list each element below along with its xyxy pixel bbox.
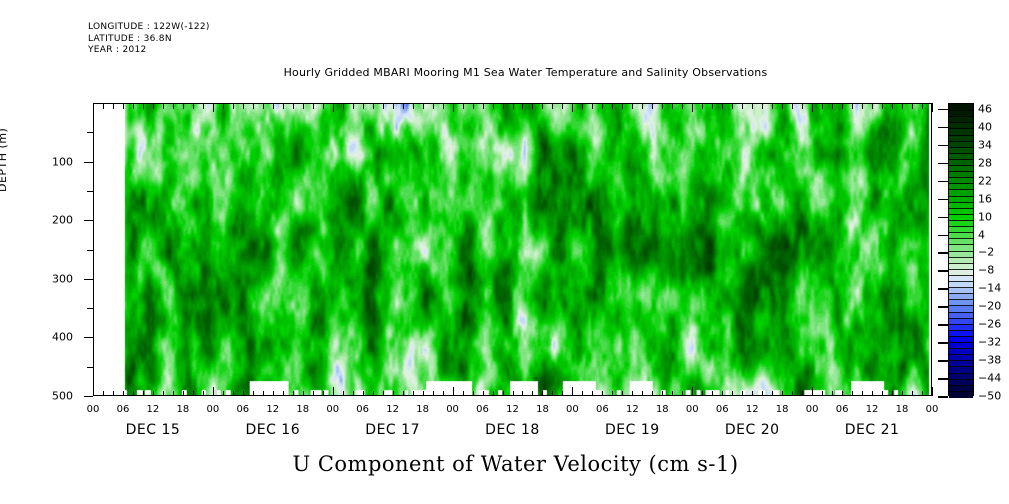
x-axis-hour-label: 12 [147,404,160,415]
axis-tick [413,391,414,397]
longitude-text: LONGITUDE : 122W(-122) [88,22,210,32]
axis-tick [87,250,93,251]
axis-tick [303,391,304,397]
axis-tick [483,391,484,397]
axis-tick [882,103,883,109]
colorbar-band-separator [949,354,973,355]
colorbar-band-separator [949,147,973,148]
axis-tick [84,279,93,280]
colorbar-band-separator [949,305,973,306]
axis-tick [552,103,553,109]
axis-tick [203,103,204,109]
axis-tick [622,103,623,109]
colorbar-tick [938,181,948,183]
axis-tick [383,391,384,397]
x-axis-hour-label: 00 [446,404,459,415]
x-axis-hour-label: 00 [326,404,339,415]
axis-tick [792,103,793,109]
colorbar-band-separator [949,189,973,190]
axis-tick [782,391,783,397]
y-axis-label: 400 [52,331,73,344]
x-axis-day-label: DEC 18 [485,422,540,438]
axis-tick [622,391,623,397]
axis-tick [782,103,783,109]
colorbar-band-separator [949,287,973,288]
axis-tick [133,391,134,397]
x-axis-day-label: DEC 20 [725,422,780,438]
y-axis-title: DEPTH (m) [0,128,9,192]
axis-tick [542,391,543,397]
colorbar-band-separator [949,202,973,203]
axis-tick [772,391,773,397]
axis-tick [233,391,234,397]
axis-tick [373,103,374,109]
colorbar-band-separator [949,373,973,374]
axis-tick [742,391,743,397]
x-axis-hour-label: 18 [177,404,190,415]
axis-tick [572,387,573,396]
x-axis-hour-label: 06 [596,404,609,415]
colorbar-band-separator [949,269,973,270]
y-axis-label: 500 [52,390,73,403]
axis-tick [113,103,114,109]
axis-tick [453,103,454,112]
axis-tick [702,391,703,397]
axis-tick [852,103,853,109]
axis-tick [632,103,633,109]
colorbar-tick-label: 4 [978,228,985,241]
colorbar-tick-label: 10 [978,210,992,223]
axis-tick [84,162,93,163]
axis-tick [293,103,294,109]
colorbar-band-separator [949,232,973,233]
axis-tick [722,391,723,397]
colorbar-tick-label: −38 [978,354,1001,367]
axis-tick [333,387,334,396]
colorbar-tick-label: 16 [978,192,992,205]
axis-tick [283,103,284,109]
colorbar-band-separator [949,171,973,172]
colorbar-band-separator [949,238,973,239]
axis-tick [87,132,93,133]
colorbar-band [949,391,973,398]
axis-tick [343,103,344,109]
axis-tick [513,103,514,109]
axis-tick [792,391,793,397]
colorbar-band-separator [949,312,973,313]
axis-tick [922,391,923,397]
axis-tick [862,391,863,397]
colorbar-band-separator [949,220,973,221]
axis-tick [253,391,254,397]
axis-tick [353,103,354,109]
axis-tick [882,391,883,397]
colorbar-band-separator [949,342,973,343]
heatmap-plot-area [93,103,932,396]
axis-tick [223,391,224,397]
x-axis-day-label: DEC 17 [365,422,420,438]
latitude-text: LATITUDE : 36.8N [88,34,172,44]
colorbar-band-separator [949,214,973,215]
axis-tick [87,308,93,309]
axis-tick [113,391,114,397]
axis-tick [87,191,93,192]
x-axis-hour-label: 12 [386,404,399,415]
axis-tick [423,103,424,109]
colorbar-tick-label: 40 [978,120,992,133]
axis-tick [84,220,93,221]
axis-tick [393,391,394,397]
axis-tick [353,391,354,397]
axis-tick [582,103,583,109]
colorbar-tick [938,342,948,344]
axis-tick [363,103,364,109]
axis-tick [852,391,853,397]
x-axis-hour-label: 12 [626,404,639,415]
colorbar-tick [938,270,948,272]
colorbar-tick-label: −8 [978,264,994,277]
velocity-field-canvas [94,104,931,395]
x-axis-hour-label: 18 [896,404,909,415]
x-axis-hour-label: 06 [476,404,489,415]
axis-tick [263,103,264,109]
axis-tick [473,103,474,109]
axis-tick [712,103,713,109]
x-axis-hour-label: 06 [356,404,369,415]
axis-tick [263,391,264,397]
axis-tick [932,387,933,396]
axis-tick [802,391,803,397]
colorbar-labels: 464034282216104−2−8−14−20−26−32−38−44−50 [978,103,1009,396]
axis-tick [752,103,753,109]
axis-tick [183,103,184,109]
colorbar-band-separator [949,275,973,276]
axis-tick [672,103,673,109]
axis-tick [592,391,593,397]
colorbar-tick [938,235,948,237]
colorbar-band-separator [949,177,973,178]
colorbar [948,103,974,396]
x-axis-hour-label: 06 [716,404,729,415]
colorbar-band-separator [949,135,973,136]
axis-tick [463,391,464,397]
axis-tick [163,103,164,109]
axis-tick [732,391,733,397]
axis-tick [403,391,404,397]
axis-tick [772,103,773,109]
colorbar-tick [938,163,948,165]
colorbar-band-separator [949,324,973,325]
x-axis-day-label: DEC 16 [245,422,300,438]
axis-tick [173,391,174,397]
colorbar-tick-label: −2 [978,246,994,259]
axis-tick [433,103,434,109]
colorbar-band-separator [949,348,973,349]
colorbar-tick [938,306,948,308]
axis-tick [522,103,523,109]
axis-tick [692,387,693,396]
axis-tick [443,103,444,109]
colorbar-band-separator [949,153,973,154]
x-axis-hour-label: 18 [536,404,549,415]
axis-tick [84,337,93,338]
colorbar-tick [938,324,948,326]
colorbar-band-separator [949,385,973,386]
year-text: YEAR : 2012 [88,45,147,55]
axis-tick [592,103,593,109]
axis-tick [752,391,753,397]
axis-tick [662,391,663,397]
colorbar-tick [938,360,948,362]
y-axis-label: 100 [52,155,73,168]
axis-tick [632,391,633,397]
axis-tick [832,391,833,397]
axis-tick [273,391,274,397]
colorbar-tick [938,127,948,129]
axis-tick [872,103,873,109]
axis-tick [213,387,214,396]
colorbar-tick-label: 46 [978,102,992,115]
axis-tick [842,103,843,109]
axis-tick [233,103,234,109]
x-axis-hour-label: 18 [656,404,669,415]
x-axis-day-label: DEC 19 [605,422,660,438]
axis-tick [123,391,124,397]
x-axis-hour-label: 00 [87,404,100,415]
axis-tick [932,103,933,112]
x-axis-hour-label: 18 [296,404,309,415]
axis-tick [223,103,224,109]
axis-tick [323,391,324,397]
x-axis-hour-label: 12 [746,404,759,415]
axis-tick [812,387,813,396]
axis-tick [333,103,334,112]
colorbar-tick-label: −50 [978,390,1001,403]
colorbar-band-separator [949,226,973,227]
colorbar-band-separator [949,293,973,294]
axis-tick [642,391,643,397]
colorbar-band-separator [949,110,973,111]
axis-tick [193,103,194,109]
colorbar-band-separator [949,330,973,331]
axis-tick [143,103,144,109]
axis-tick [682,103,683,109]
axis-tick [123,103,124,109]
axis-tick [273,103,274,109]
colorbar-tick [938,145,948,147]
colorbar-tick [938,199,948,201]
axis-tick [493,391,494,397]
axis-tick [363,391,364,397]
axis-tick [313,391,314,397]
colorbar-tick-label: 28 [978,156,992,169]
axis-tick [373,391,374,397]
colorbar-tick-label: 34 [978,138,992,151]
axis-tick [393,103,394,109]
colorbar-band-separator [949,318,973,319]
axis-tick [892,391,893,397]
colorbar-band-separator [949,122,973,123]
colorbar-ticks [938,103,948,396]
colorbar-tick-label: −20 [978,300,1001,313]
axis-tick [503,103,504,109]
colorbar-band-separator [949,244,973,245]
x-axis-hour-labels: 0006121800061218000612180006121800061218… [93,404,932,418]
axis-tick [93,103,94,112]
axis-tick [672,391,673,397]
axis-tick [153,391,154,397]
colorbar-band-separator [949,159,973,160]
axis-tick [193,391,194,397]
axis-tick [483,103,484,109]
x-axis-day-labels: DEC 15DEC 16DEC 17DEC 18DEC 19DEC 20DEC … [93,422,932,442]
x-axis-hour-label: 06 [117,404,130,415]
axis-tick [243,391,244,397]
axis-tick [582,391,583,397]
axis-tick [602,103,603,109]
axis-tick [572,103,573,112]
axis-tick [183,391,184,397]
x-axis-hour-label: 18 [776,404,789,415]
x-axis-hour-label: 06 [836,404,849,415]
axis-tick [163,391,164,397]
axis-tick [542,103,543,109]
axis-tick [433,391,434,397]
x-axis-hour-label: 00 [686,404,699,415]
axis-tick [692,103,693,112]
colorbar-band-separator [949,183,973,184]
axis-tick [872,391,873,397]
colorbar-tick-label: −32 [978,336,1001,349]
axis-tick [612,103,613,109]
axis-tick [513,391,514,397]
colorbar-tick [938,109,948,111]
axis-tick [143,391,144,397]
colorbar-band-separator [949,116,973,117]
axis-tick [532,103,533,109]
axis-tick [702,103,703,109]
chart-title: Hourly Gridded MBARI Mooring M1 Sea Wate… [0,66,1009,79]
axis-tick [842,391,843,397]
colorbar-band-separator [949,128,973,129]
colorbar-tick [938,288,948,290]
axis-tick [822,391,823,397]
colorbar-tick [938,217,948,219]
axis-tick [463,103,464,109]
axis-tick [802,103,803,109]
axis-tick [253,103,254,109]
axis-tick [902,103,903,109]
x-axis-day-label: DEC 21 [845,422,900,438]
colorbar-band-separator [949,299,973,300]
axis-tick [522,391,523,397]
x-axis-hour-label: 12 [866,404,879,415]
y-axis-label: 300 [52,272,73,285]
axis-tick [303,103,304,109]
axis-tick [413,103,414,109]
colorbar-tick-label: 22 [978,174,992,187]
y-axis-label: 200 [52,214,73,227]
axis-tick [87,367,93,368]
station-metadata: LONGITUDE : 122W(-122) LATITUDE : 36.8N … [88,22,210,57]
axis-tick [742,103,743,109]
axis-tick [562,391,563,397]
colorbar-band-separator [949,336,973,337]
axis-tick [552,391,553,397]
axis-tick [243,103,244,109]
axis-tick [283,391,284,397]
x-axis-hour-label: 18 [416,404,429,415]
x-axis-hour-label: 12 [266,404,279,415]
axis-tick [812,103,813,112]
axis-tick [732,103,733,109]
x-axis-day-label: DEC 15 [126,422,181,438]
x-axis-hour-label: 00 [566,404,579,415]
colorbar-tick-label: −26 [978,318,1001,331]
velocity-field [94,104,931,395]
axis-tick [822,103,823,109]
axis-tick [602,391,603,397]
colorbar-tick [938,378,948,380]
x-axis-hour-label: 00 [806,404,819,415]
colorbar-tick-label: −44 [978,372,1001,385]
colorbar-band-separator [949,281,973,282]
axis-tick [652,391,653,397]
axis-tick [443,391,444,397]
axis-tick [902,391,903,397]
colorbar-band-separator [949,141,973,142]
x-axis-hour-label: 12 [506,404,519,415]
y-axis-tick-labels: 100200300400500 [0,103,85,396]
axis-tick [84,396,93,397]
axis-tick [532,391,533,397]
axis-tick [642,103,643,109]
colorbar-band-separator [949,208,973,209]
axis-tick [203,391,204,397]
axis-tick [213,103,214,112]
axis-tick [493,103,494,109]
axis-tick [612,391,613,397]
axis-tick [722,103,723,109]
axis-tick [133,103,134,109]
colorbar-tick [938,396,948,398]
colorbar-band-separator [949,263,973,264]
x-axis-hour-label: 00 [206,404,219,415]
colorbar-band-separator [949,360,973,361]
x-axis-hour-label: 00 [926,404,939,415]
axis-tick [862,103,863,109]
axis-tick [403,103,404,109]
axis-tick [562,103,563,109]
axis-tick [922,103,923,109]
axis-tick [343,391,344,397]
axis-tick [762,391,763,397]
colorbar-tick [938,252,948,254]
colorbar-band-separator [949,257,973,258]
colorbar-band-separator [949,196,973,197]
axis-tick [892,103,893,109]
colorbar-band-separator [949,165,973,166]
axis-tick [103,391,104,397]
colorbar-band-separator [949,391,973,392]
axis-tick [912,103,913,109]
colorbar-band-separator [949,251,973,252]
axis-tick [153,103,154,109]
axis-tick [712,391,713,397]
axis-tick [313,103,314,109]
colorbar-band-separator [949,379,973,380]
axis-tick [93,387,94,396]
